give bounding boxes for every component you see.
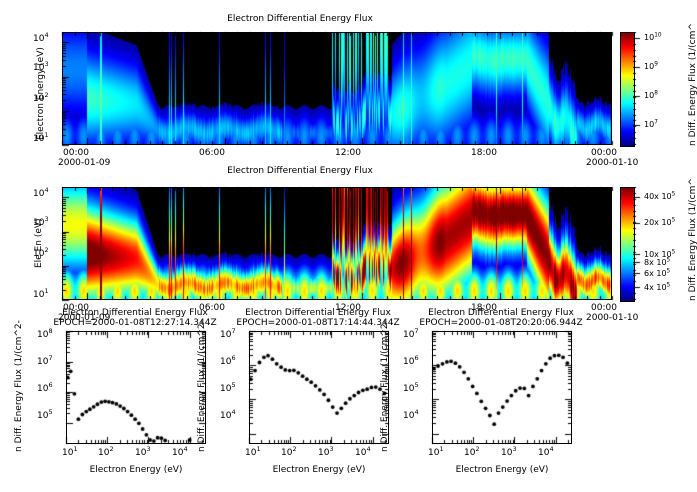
- mid-cbtick-6: 6x 105: [644, 269, 670, 278]
- spectrum-3-ytick-4: 104: [403, 411, 419, 421]
- spectrum-1-ytick-8: 108: [37, 330, 53, 340]
- top-ytick-3: 103: [33, 63, 49, 73]
- top-panel-axis-ticks: [50, 26, 625, 156]
- spectrum-3-ytick-6: 106: [403, 357, 419, 367]
- spectrum-3-xtick-3: 103: [501, 448, 517, 458]
- spectrum-3-title: Electron Differential Energy Flux: [406, 308, 596, 318]
- spectrum-2-ytick-5: 105: [220, 384, 236, 394]
- mid-ytick-4: 104: [33, 189, 49, 199]
- spectrum-1-ylabel: n Diff. Energy Flux (1/(cm^2-: [14, 320, 24, 452]
- top-ytick-4: 104: [33, 34, 49, 44]
- spectrum-3-axis-ticks: [420, 325, 585, 455]
- mid-colorbar-ticks: [633, 187, 643, 300]
- mid-cbtick-8: 8x 105: [644, 258, 670, 267]
- spectrum-2-xtick-2: 102: [281, 448, 297, 458]
- mid-panel-axis-ticks: [50, 181, 625, 311]
- spectrum-1-xtick-1: 101: [62, 448, 78, 458]
- spectrum-1-title: Electron Differential Energy Flux: [40, 308, 230, 318]
- spectrum-1-xtick-4: 104: [172, 448, 188, 458]
- spectrum-1-ytick-6: 106: [37, 384, 53, 394]
- spectrum-2-ytick-7: 107: [220, 330, 236, 340]
- top-colorbar-label: n Diff. Energy Flux (1/(cm^: [688, 23, 697, 146]
- spectrum-2-ytick-6: 106: [220, 357, 236, 367]
- top-panel-title: Electron Differential Energy Flux: [0, 14, 600, 24]
- top-cbtick-10: 1010: [644, 33, 662, 42]
- spectrum-2-axis-ticks: [237, 325, 402, 455]
- spectrum-1-ytick-7: 107: [37, 357, 53, 367]
- mid-ytick-3: 103: [33, 218, 49, 228]
- mid-ytick-2: 102: [33, 249, 49, 259]
- spectrum-1-ytick-5: 105: [37, 411, 53, 421]
- spectrum-3-ytick-7: 107: [403, 330, 419, 340]
- spectrum-1-axis-ticks: [54, 325, 219, 455]
- spectrum-1-xlabel: Electron Energy (eV): [56, 465, 216, 475]
- spectrum-3-xtick-1: 101: [428, 448, 444, 458]
- top-xtick-3: 18:00: [471, 148, 497, 158]
- top-cbtick-7: 107: [644, 120, 658, 129]
- top-xtick-1: 06:00: [199, 148, 225, 158]
- mid-colorbar-label: n Diff. Energy Flux (1/(cm^: [688, 178, 697, 301]
- spectrum-3-xtick-4: 104: [538, 448, 554, 458]
- top-xtick-4: 00:00: [591, 148, 617, 158]
- spectrum-1-xtick-3: 103: [135, 448, 151, 458]
- spectrum-3-xlabel: Electron Energy (eV): [422, 465, 582, 475]
- spectrum-2-xlabel: Electron Energy (eV): [239, 465, 399, 475]
- spectrum-3-ytick-5: 105: [403, 384, 419, 394]
- top-cbtick-8: 108: [644, 91, 658, 100]
- mid-ytick-1: 101: [33, 290, 49, 300]
- spectrum-3-xtick-2: 102: [464, 448, 480, 458]
- mid-cbtick-40: 40x 105: [644, 192, 675, 201]
- spectrum-3-ylabel: n Diff. Energy Flux (1/(cm^2-: [380, 320, 390, 452]
- top-cbtick-9: 109: [644, 62, 658, 71]
- top-colorbar-ticks: [633, 32, 643, 145]
- top-ytick-1: 101: [33, 134, 49, 144]
- spectrum-1-xtick-2: 102: [98, 448, 114, 458]
- mid-cbtick-4: 4x 105: [644, 283, 670, 292]
- mid-panel-title: Electron Differential Energy Flux: [0, 166, 600, 176]
- top-ytick-2: 102: [33, 94, 49, 104]
- spectrum-2-title: Electron Differential Energy Flux: [223, 308, 413, 318]
- spectrum-2-xtick-4: 104: [355, 448, 371, 458]
- spectrum-2-xtick-3: 103: [318, 448, 334, 458]
- spectrum-2-ylabel: n Diff. Energy Flux (1/(cm^2-: [197, 320, 207, 452]
- mid-cbtick-20: 20x 105: [644, 218, 675, 227]
- spectrum-2-ytick-4: 104: [220, 411, 236, 421]
- spectrum-2-xtick-1: 101: [245, 448, 261, 458]
- top-xtick-2: 12:00: [335, 148, 361, 158]
- top-xtick-0: 00:00: [63, 148, 89, 158]
